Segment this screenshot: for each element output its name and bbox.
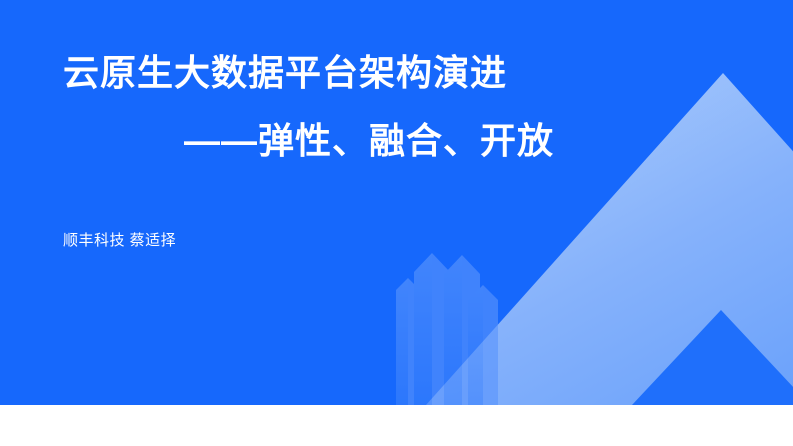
presenter-line: 顺丰科技 蔡适择 — [63, 229, 176, 250]
slide-subtitle: ——弹性、融合、开放 — [184, 118, 554, 165]
slide-background: 云原生大数据平台架构演进 ——弹性、融合、开放 顺丰科技 蔡适择 — [0, 0, 793, 405]
footer-bar — [0, 405, 793, 446]
presentation-slide: 云原生大数据平台架构演进 ——弹性、融合、开放 顺丰科技 蔡适择 ArchSum… — [0, 0, 793, 446]
slide-title: 云原生大数据平台架构演进 — [63, 50, 507, 97]
